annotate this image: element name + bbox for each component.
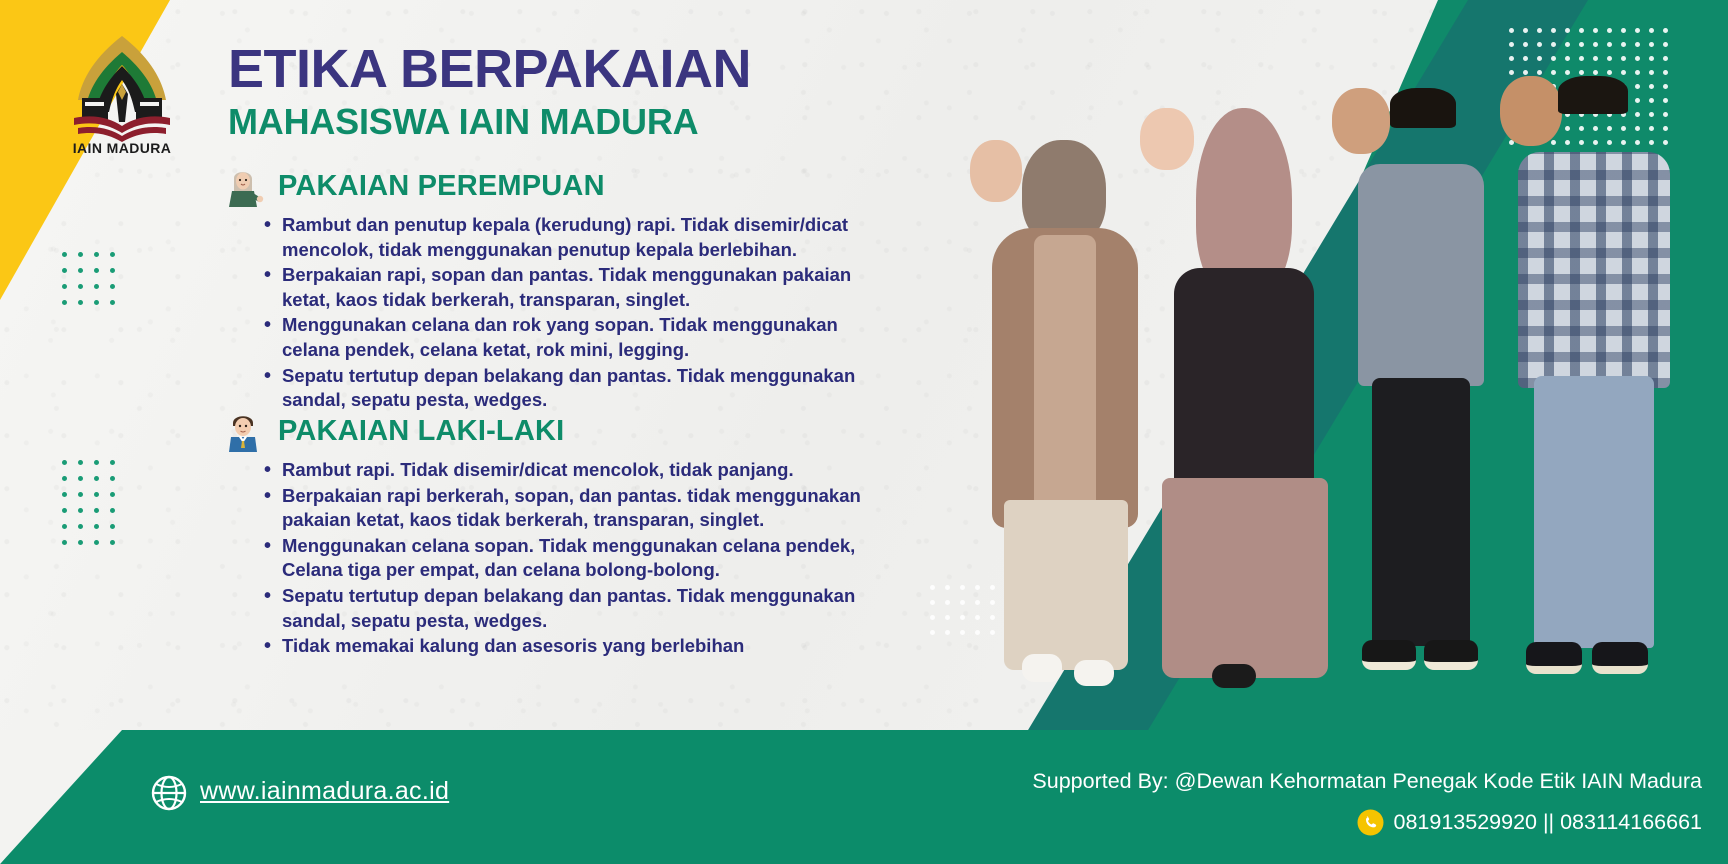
whatsapp-icon [1357,809,1384,836]
rule-item: Menggunakan celana sopan. Tidak mengguna… [264,534,874,583]
rule-item: Tidak memakai kalung dan asesoris yang b… [264,634,874,659]
section-header-perempuan: PAKAIAN PEREMPUAN [222,165,902,207]
person-woman-brown-tunic [970,140,1160,688]
rule-item: Sepatu tertutup depan belakang dan panta… [264,364,874,413]
website-link[interactable]: www.iainmadura.ac.id [200,777,449,806]
poster-subtitle: MAHASISWA IAIN MADURA [228,104,698,140]
rules-list-perempuan: Rambut dan penutup kepala (kerudung) rap… [264,213,902,413]
phone-numbers-row: 081913529920 || 083114166661 [1357,809,1703,836]
section-pakaian-laki-laki: PAKAIAN LAKI-LAKI Rambut rapi. Tidak dis… [222,410,902,660]
woman-hijab-icon [222,165,264,207]
rule-item: Menggunakan celana dan rok yang sopan. T… [264,313,874,362]
poster-title: ETIKA BERPAKAIAN [228,42,751,96]
rule-item: Berpakaian rapi, sopan dan pantas. Tidak… [264,263,874,312]
section-pakaian-perempuan: PAKAIAN PEREMPUAN Rambut dan penutup kep… [222,165,902,414]
iain-madura-logo: IAIN MADURA [52,22,192,162]
person-woman-mauve-hijab [1140,108,1340,688]
rule-item: Berpakaian rapi berkerah, sopan, dan pan… [264,484,874,533]
logo-wordmark: IAIN MADURA [73,140,172,156]
phone-numbers-text: 081913529920 || 083114166661 [1394,810,1703,835]
dot-grid-left-lower [62,460,115,545]
supported-by-text: Supported By: @Dewan Kehormatan Penegak … [1032,769,1702,794]
rule-item: Rambut dan penutup kepala (kerudung) rap… [264,213,874,262]
rule-item: Rambut rapi. Tidak disemir/dicat mencolo… [264,458,874,483]
section-title-perempuan: PAKAIAN PEREMPUAN [278,170,605,203]
poster-canvas: IAIN MADURA ETIKA BERPAKAIAN MAHASISWA I… [0,0,1728,864]
dot-grid-left-upper [62,252,115,305]
rules-list-laki-laki: Rambut rapi. Tidak disemir/dicat mencolo… [264,458,902,659]
man-student-icon [222,410,264,452]
person-man-plaid-shirt [1500,76,1700,688]
students-photo [960,88,1728,688]
section-title-laki-laki: PAKAIAN LAKI-LAKI [278,415,564,448]
rule-item: Sepatu tertutup depan belakang dan panta… [264,584,874,633]
globe-icon [150,774,188,812]
person-man-grey-shirt [1332,88,1508,688]
section-header-laki-laki: PAKAIAN LAKI-LAKI [222,410,902,452]
